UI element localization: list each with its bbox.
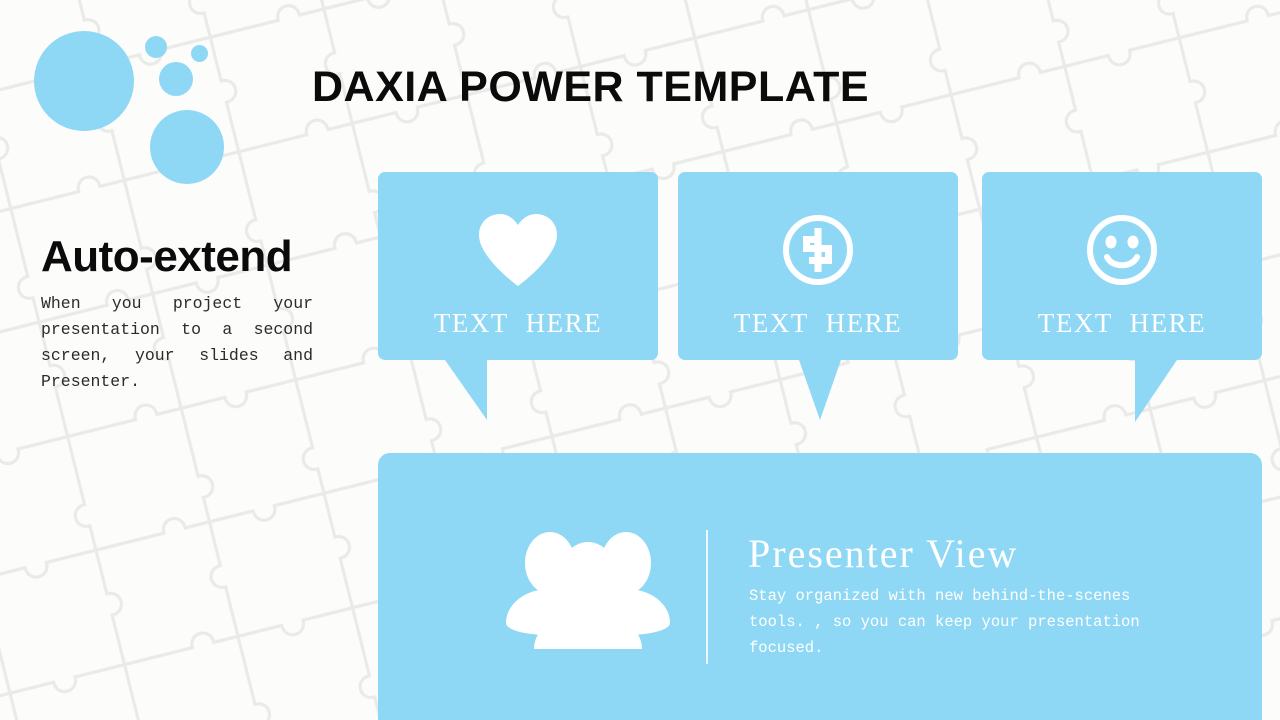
panel-divider xyxy=(706,530,708,664)
decorative-bubble-small-3 xyxy=(159,62,193,96)
slide-canvas: DAXIA POWER TEMPLATE Auto-extend When yo… xyxy=(0,0,1280,720)
decorative-bubble-small-1 xyxy=(145,36,167,58)
section-body-auto-extend: When you project your presentation to a … xyxy=(41,291,313,395)
speech-card-2-label: TEXT HERE xyxy=(678,308,958,339)
smiley-face-icon xyxy=(982,214,1262,286)
speech-card-3[interactable]: TEXT HERE xyxy=(982,172,1262,360)
decorative-bubble-large xyxy=(34,31,134,131)
dollar-coin-icon xyxy=(678,214,958,286)
presenter-view-panel[interactable]: Presenter View Stay organized with new b… xyxy=(378,453,1262,720)
presenter-view-body: Stay organized with new behind-the-scene… xyxy=(749,583,1149,661)
speech-card-3-tail xyxy=(1135,360,1177,422)
decorative-bubble-small-2 xyxy=(191,45,208,62)
section-heading-auto-extend: Auto-extend xyxy=(41,232,292,282)
speech-card-2[interactable]: TEXT HERE xyxy=(678,172,958,360)
speech-card-3-label: TEXT HERE xyxy=(982,308,1262,339)
speech-card-1-label: TEXT HERE xyxy=(378,308,658,339)
decorative-bubble-medium xyxy=(150,110,224,184)
speech-card-1[interactable]: TEXT HERE xyxy=(378,172,658,360)
group-people-icon xyxy=(498,521,678,653)
slide-title: DAXIA POWER TEMPLATE xyxy=(312,63,869,112)
heart-icon xyxy=(378,214,658,286)
speech-card-2-tail xyxy=(799,360,841,420)
presenter-view-heading: Presenter View xyxy=(748,530,1018,577)
speech-card-1-tail xyxy=(445,360,487,420)
